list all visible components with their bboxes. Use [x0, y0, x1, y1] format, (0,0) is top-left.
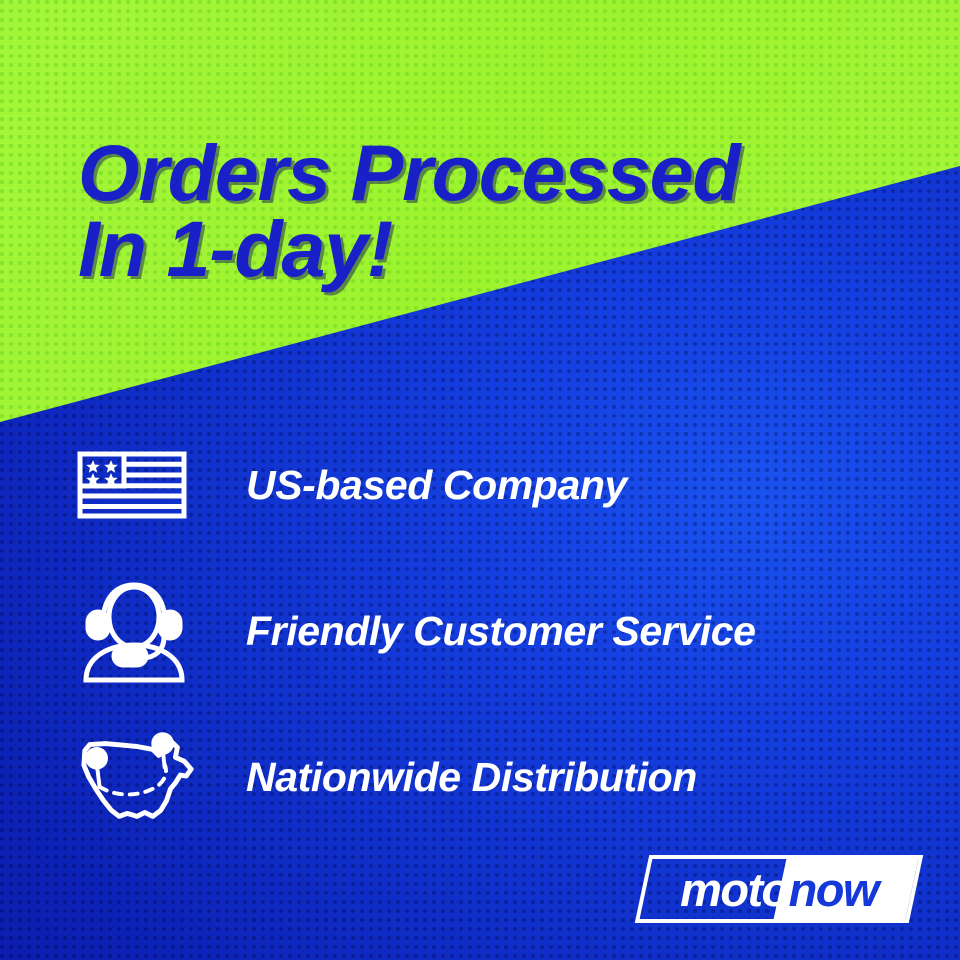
feature-label-nationwide: Nationwide Distribution [246, 722, 697, 832]
promo-poster: Orders Processed In 1-day! [0, 0, 960, 960]
page-title: Orders Processed In 1-day! [78, 58, 938, 365]
feature-label-us-based: US-based Company [246, 430, 627, 540]
feature-list: US-based Company [0, 430, 960, 868]
logo-wordmark: motonow [646, 859, 912, 919]
feature-item-customer-service: Friendly Customer Service [0, 576, 960, 722]
feature-label-customer-service: Friendly Customer Service [246, 576, 756, 686]
us-map-route-icon [76, 722, 200, 832]
feature-item-nationwide: Nationwide Distribution [0, 722, 960, 868]
logo-text-now: now [789, 866, 878, 913]
headline-line-2: In 1-day! [78, 211, 938, 288]
feature-item-us-based: US-based Company [0, 430, 960, 576]
brand-logo[interactable]: motonow [635, 855, 923, 923]
headset-support-icon [76, 576, 200, 686]
logo-text-moto: moto [680, 866, 788, 913]
us-flag-icon [76, 430, 200, 540]
